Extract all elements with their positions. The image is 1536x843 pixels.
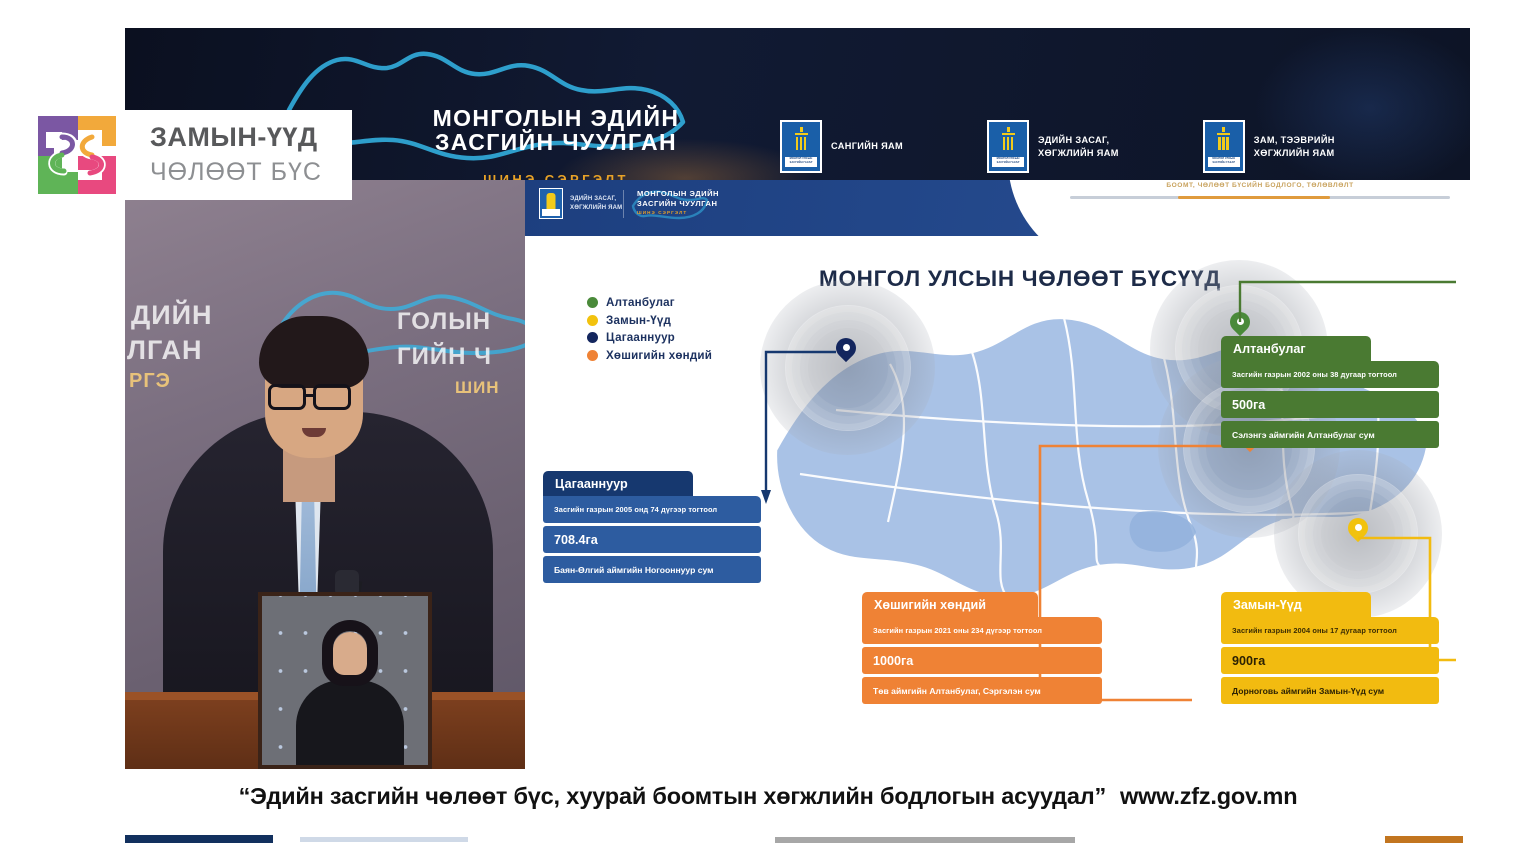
emblem-caption: МОНГОЛ УЛСЫН ЗАСГИЙН ГАЗАР	[1208, 157, 1240, 167]
backdrop-text-right1: ГОЛЫН	[397, 308, 491, 336]
next-slide-sliver	[0, 834, 1536, 843]
caption-text: “Эдийн засгийн чөлөөт бүс, хуурай боомты…	[239, 783, 1106, 809]
sliver-block-a	[125, 835, 273, 843]
eyeglasses-left-icon	[268, 384, 306, 410]
zone-card-area: 708.4га	[543, 526, 761, 553]
slide-progress-bar	[1070, 196, 1450, 199]
legend-dot-navy	[587, 332, 598, 343]
emblem-caption: МОНГОЛ УЛСЫН ЗАСГИЙН ГАЗАР	[992, 157, 1024, 167]
zone-card-location: Сэлэнгэ аймгийн Алтанбулаг сум	[1221, 421, 1439, 448]
slide-kicker: БООМТ, ЧӨЛӨӨТ БҮСИЙН БОДЛОГО, ТӨЛӨВЛӨЛТ	[1110, 182, 1410, 189]
caption-url: www.zfz.gov.mn	[1120, 783, 1297, 809]
state-emblem-icon	[539, 188, 563, 219]
interpreter-hair	[322, 620, 378, 686]
ministry-label: ЭДИЙН ЗАСАГ, ХӨГЖЛИЙН ЯАМ	[1038, 134, 1119, 158]
soyombo-icon	[794, 127, 809, 154]
zfz-watermark-panel: ЗАМЫН-ҮҮД ЧӨЛӨӨТ БҮС	[122, 110, 352, 200]
legend-item-tsagaannuur: Цагааннуур	[587, 331, 712, 344]
watermark-title: ЗАМЫН-ҮҮД	[150, 122, 318, 153]
zone-card-resolution: Засгийн газрын 2005 онд 74 дүгээр тогтоо…	[543, 496, 761, 523]
sign-language-interpreter-inset	[258, 592, 432, 769]
ministry-logo-economy: МОНГОЛ УЛСЫН ЗАСГИЙН ГАЗАР ЭДИЙН ЗАСАГ, …	[987, 120, 1119, 173]
slide-header-ministry: ЭДИЙН ЗАСАГ, ХӨГЖЛИЙН ЯАМ	[539, 188, 622, 219]
legend-item-khushigiin-khundii: Хөшигийн хөндий	[587, 349, 712, 362]
ministry-logo-transport: МОНГОЛ УЛСЫН ЗАСГИЙН ГАЗАР ЗАМ, ТЭЭВРИЙН…	[1203, 120, 1335, 173]
legend-dot-yellow	[587, 315, 598, 326]
zone-card-resolution: Засгийн газрын 2002 оны 38 дугаар тогтоо…	[1221, 361, 1439, 388]
state-emblem-icon: МОНГОЛ УЛСЫН ЗАСГИЙН ГАЗАР	[780, 120, 822, 173]
soyombo-icon	[1216, 127, 1231, 154]
eyeglasses-right-icon	[313, 384, 351, 410]
interpreter-torso	[296, 680, 404, 769]
slide-header-forum-mark: МОНГОЛЫН ЭДИЙН ЗАСГИЙН ЧУУЛГАН ШИНЭ СЭРГ…	[637, 189, 719, 215]
zone-card-title: Цагааннуур	[543, 471, 693, 496]
legend-dot-green	[587, 297, 598, 308]
backdrop-text-right3: ШИН	[455, 378, 500, 398]
ministry-logo-finance: МОНГОЛ УЛСЫН ЗАСГИЙН ГАЗАР САНГИЙН ЯАМ	[780, 120, 903, 173]
legend-label: Хөшигийн хөндий	[606, 349, 712, 362]
broadcast-frame: МОНГОЛЫН ЭДИЙН ЗАСГИЙН ЧУУЛГАН ШИНЭ СЭРГ…	[0, 0, 1536, 843]
slide-progress-fill	[1178, 196, 1330, 199]
legend-item-zamyn-uud: Замын-Үүд	[587, 314, 712, 327]
zone-card-location: Төв аймгийн Алтанбулаг, Сэргэлэн сум	[862, 677, 1102, 704]
map-legend: Алтанбулаг Замын-Үүд Цагааннуур Хөшигийн…	[587, 296, 712, 366]
banner-title: МОНГОЛЫН ЭДИЙН ЗАСГИЙН ЧУУЛГАН	[341, 106, 771, 155]
ministry-label: ЗАМ, ТЭЭВРИЙН ХӨГЖЛИЙН ЯАМ	[1254, 134, 1335, 158]
zone-card-khushigiin-khundii[interactable]: Хөшигийн хөндий Засгийн газрын 2021 оны …	[862, 592, 1102, 704]
zone-card-tsagaannuur[interactable]: Цагааннуур Засгийн газрын 2005 онд 74 дү…	[543, 471, 761, 583]
sliver-block-c	[775, 837, 1075, 843]
ministry-logo-group: МОНГОЛ УЛСЫН ЗАСГИЙН ГАЗАР САНГИЙН ЯАМ	[780, 120, 1335, 173]
backdrop-text-line3: РГЭ	[129, 370, 171, 393]
legend-dot-orange	[587, 350, 598, 361]
emblem-bar	[542, 209, 560, 216]
zfz-logo-icon	[32, 110, 122, 200]
watermark-subtitle: ЧӨЛӨӨТ БҮС	[150, 158, 322, 187]
legend-label: Замын-Үүд	[606, 314, 671, 327]
zone-card-area: 500га	[1221, 391, 1439, 418]
legend-label: Алтанбулаг	[606, 296, 675, 309]
zone-card-area: 900га	[1221, 647, 1439, 674]
slide-header-curve	[1008, 180, 1470, 270]
soyombo-icon	[547, 193, 556, 209]
speaker-hair	[259, 316, 369, 388]
zone-card-location: Баян-Өлгий аймгийн Ногооннуур сум	[543, 556, 761, 583]
slide-header-forum-title: МОНГОЛЫН ЭДИЙН ЗАСГИЙН ЧУУЛГАН	[637, 189, 719, 209]
zone-card-title: Хөшигийн хөндий	[862, 592, 1038, 617]
zone-card-resolution: Засгийн газрын 2021 оны 234 дүгээр тогто…	[862, 617, 1102, 644]
banner-subtitle: ШИНЭ СЭРГЭЛТ	[341, 172, 771, 180]
slide-header-ministry-label: ЭДИЙН ЗАСАГ, ХӨГЖЛИЙН ЯАМ	[570, 195, 622, 212]
soyombo-icon	[1001, 127, 1016, 154]
zone-card-altanbulag[interactable]: Алтанбулаг Засгийн газрын 2002 оны 38 ду…	[1221, 336, 1439, 448]
state-emblem-icon: МОНГОЛ УЛСЫН ЗАСГИЙН ГАЗАР	[1203, 120, 1245, 173]
eyeglasses-bridge-icon	[306, 394, 314, 397]
zone-card-area: 1000га	[862, 647, 1102, 674]
backdrop-text-line2: ЛГАН	[127, 335, 203, 366]
slide-header-divider	[623, 190, 624, 218]
zone-card-location: Дорноговь аймгийн Замын-Үүд сум	[1221, 677, 1439, 704]
zone-card-resolution: Засгийн газрын 2004 оны 17 дугаар тогтоо…	[1221, 617, 1439, 644]
legend-label: Цагааннуур	[606, 331, 675, 344]
backdrop-text-line1: ДИЙН	[131, 300, 213, 331]
slide-header-forum-sub: ШИНЭ СЭРГЭЛТ	[637, 210, 719, 215]
state-emblem-icon: МОНГОЛ УЛСЫН ЗАСГИЙН ГАЗАР	[987, 120, 1029, 173]
sliver-block-d	[1385, 836, 1463, 843]
zone-card-title: Замын-Үүд	[1221, 592, 1371, 617]
ministry-label: САНГИЙН ЯАМ	[831, 140, 903, 152]
program-caption: “Эдийн засгийн чөлөөт бүс, хуурай боомты…	[0, 783, 1536, 810]
legend-item-altanbulag: Алтанбулаг	[587, 296, 712, 309]
presentation-slide: ЭДИЙН ЗАСАГ, ХӨГЖЛИЙН ЯАМ МОНГОЛЫН ЭДИЙН…	[525, 180, 1470, 769]
zone-card-title: Алтанбулаг	[1221, 336, 1371, 361]
backdrop-text-right2: ГИЙН Ч	[397, 343, 492, 371]
sliver-block-b	[300, 837, 468, 842]
zone-card-zamyn-uud[interactable]: Замын-Үүд Засгийн газрын 2004 оны 17 дуг…	[1221, 592, 1439, 704]
emblem-caption: МОНГОЛ УЛСЫН ЗАСГИЙН ГАЗАР	[785, 157, 817, 167]
